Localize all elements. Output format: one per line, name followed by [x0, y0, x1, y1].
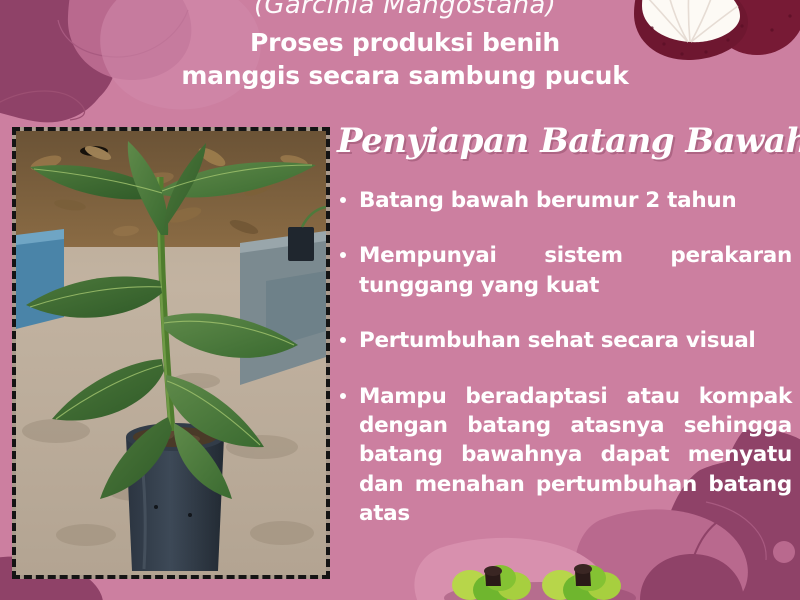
list-item-label: Mampu beradaptasi atau kompak dengan bat… [359, 382, 792, 529]
blob-bottom-center-light [414, 538, 607, 600]
infographic-slide: (Garcinia Mangostana) Proses produksi be… [0, 0, 800, 600]
bullet-dot-icon [340, 252, 346, 258]
list-item-label: Batang bawah berumur 2 tahun [359, 186, 792, 215]
header-subtitle-line2: manggis secara sambung pucuk [180, 60, 630, 93]
section-title: Penyiapan Batang Bawah [337, 124, 792, 160]
content-column: Penyiapan Batang Bawah Batang bawah beru… [337, 124, 792, 529]
outline-curve-top-left [0, 91, 85, 120]
bullet-list: Batang bawah berumur 2 tahun Mempunyai s… [337, 186, 792, 529]
list-item: Pertumbuhan sehat secara visual [337, 326, 792, 355]
blob-top-left-dark-2 [0, 0, 117, 115]
header-block: (Garcinia Mangostana) Proses produksi be… [180, 0, 630, 92]
mangosteen-speckles [650, 14, 791, 55]
fruit-cluster-left [452, 565, 531, 600]
photo-small-polybag [288, 227, 314, 261]
list-item-label: Pertumbuhan sehat secara visual [359, 326, 792, 355]
bullet-dot-icon [340, 197, 346, 203]
list-item: Batang bawah berumur 2 tahun [337, 186, 792, 215]
mangosteen-front-rind [634, 0, 748, 60]
dot-bottom-right [773, 541, 795, 563]
mangosteen-flesh [642, 0, 740, 42]
bullet-dot-icon [340, 337, 346, 343]
list-item-label: Mempunyai sistem perakaran tunggang yang… [359, 241, 792, 300]
bullet-dot-icon [340, 393, 346, 399]
fruit-cluster-shadow [444, 582, 636, 600]
blob-top-left-dark [0, 0, 119, 122]
latin-name-text: (Garcinia Mangostana) [180, 0, 630, 18]
list-item: Mampu beradaptasi atau kompak dengan bat… [337, 382, 792, 529]
seedling-photo-panel [12, 127, 330, 579]
outline-curve-header-left [58, 10, 188, 57]
mangosteen-segments [644, 0, 738, 42]
fruit-cluster-right [542, 564, 621, 600]
opened-mangosteen-fruit [634, 0, 800, 60]
mangosteen-back-shade [709, 0, 800, 55]
dark-fruit-right [640, 554, 744, 600]
header-subtitle-line1: Proses produksi benih [180, 27, 630, 60]
seedling-photo [16, 131, 326, 575]
blob-header-left [68, 0, 191, 80]
young-green-mangosteen-fruits [444, 520, 744, 600]
mangosteen-back-rind [709, 0, 800, 55]
list-item: Mempunyai sistem perakaran tunggang yang… [337, 241, 792, 300]
header-subtitle: Proses produksi benih manggis secara sam… [180, 27, 630, 92]
